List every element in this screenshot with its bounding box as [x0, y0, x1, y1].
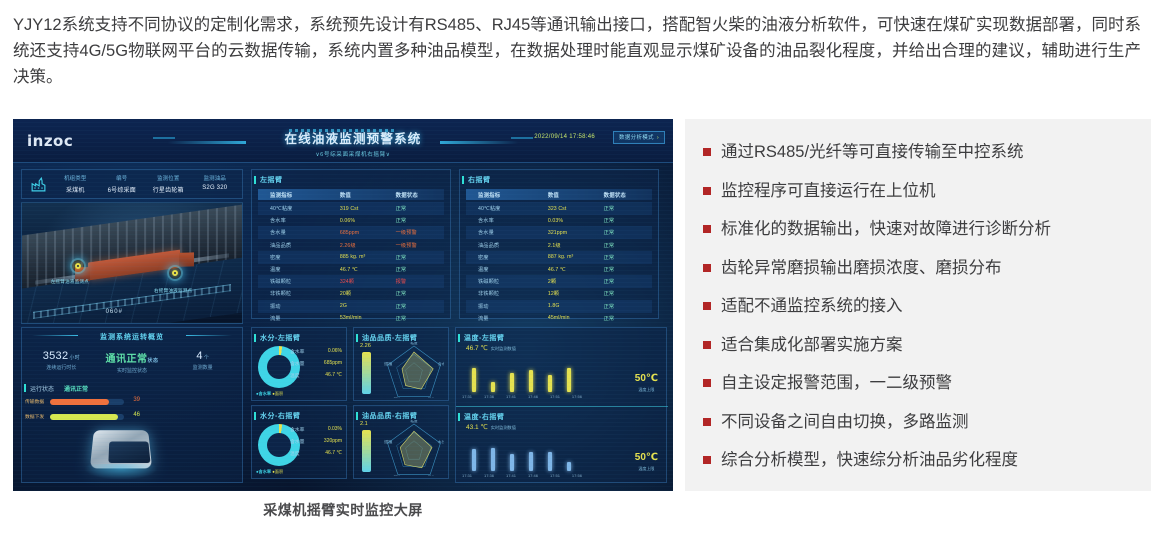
- stat-unit: 小时: [69, 355, 80, 361]
- progress-bar-download: 46: [50, 414, 124, 420]
- cell-value: 323 Cst: [548, 206, 604, 212]
- cell-value: 46.7 ℃: [548, 267, 604, 273]
- header-title-wrap: 在线油液监测预警系统 ∨6号综采面采煤机右摇臂∨: [253, 123, 453, 158]
- kv-value: 0.03%: [328, 426, 342, 433]
- limit-note: 温度上限: [635, 387, 658, 393]
- axis-tick-label: 17:41: [506, 394, 516, 399]
- table-row: 40℃粘度323 Cst正常: [466, 202, 652, 215]
- legend-item-rate: ●含水率: [256, 469, 271, 474]
- column-header-status: 数据状态: [396, 191, 444, 199]
- limit-value: 50℃: [635, 452, 658, 463]
- kv-value: 685ppm: [324, 360, 342, 367]
- quality-left-gauge-bar: [362, 352, 371, 394]
- dashboard-header: inzoc 在线油液监测预警系统 ∨6号综采面采煤机右摇臂∨ 2022/09/1…: [13, 119, 673, 163]
- device-glow: [84, 464, 158, 480]
- info-col-number: 编号 6号综采面: [99, 174, 146, 194]
- axis-tick-label: 17:36: [484, 473, 494, 478]
- kv-key: 温度: [290, 372, 300, 379]
- svg-text:颗粒: 颗粒: [394, 475, 402, 476]
- equipment-info-columns: 机组类型 采煤机 编号 6号综采面 监测位置 行星齿轮箱 监测油品 S2G 32…: [52, 174, 238, 194]
- cell-value: 887 kg. m³: [548, 254, 604, 260]
- monitor-point-left-label: 左摇臂油液监测点: [51, 279, 89, 285]
- water-left-legend: ●含水率 ●面积: [256, 391, 283, 397]
- temperature-right-title: 温度-右摇臂: [464, 412, 504, 422]
- cell-value: 2.26级: [340, 242, 396, 249]
- water-panel-right-arm: 水分-右摇臂 ●含水率 ●面积 含水率0.03% 含水量320ppm 温度46.…: [251, 405, 347, 479]
- water-left-values: 含水率0.06% 含水量685ppm 温度46.7 ℃: [290, 348, 342, 384]
- scene-belt-label: 060#: [106, 309, 123, 315]
- cell-metric: 40℃粘度: [258, 205, 340, 212]
- svg-text:粘度: 粘度: [410, 342, 418, 345]
- cell-value: 45ml/min: [548, 315, 604, 321]
- chart-bar: [529, 370, 533, 392]
- cell-value: 53ml/min: [340, 315, 396, 321]
- bullet-square-icon: [703, 264, 711, 272]
- quality-right-value: 2.1: [360, 421, 368, 427]
- stat-unit: 状态: [148, 358, 159, 364]
- temperature-right-bar-chart: [466, 435, 578, 471]
- info-label: 机组类型: [52, 174, 99, 182]
- bullet-text: 适合集成化部署实施方案: [721, 334, 903, 356]
- bar-label-transmit: 传输数据: [25, 398, 44, 405]
- axis-tick-label: 17:51: [550, 473, 560, 478]
- bullet-item: 齿轮异常磨损输出磨损浓度、磨损分布: [703, 257, 1135, 279]
- limit-note: 温度上限: [635, 466, 658, 472]
- table-row: 流量45ml/min正常: [466, 312, 652, 325]
- table-title-left: 左摇臂: [260, 175, 283, 185]
- cell-metric: 密度: [258, 254, 340, 261]
- dashboard-subtitle-selector[interactable]: ∨6号综采面采煤机右摇臂∨: [253, 150, 453, 158]
- cell-metric: 铁磁颗粒: [466, 278, 548, 285]
- water-panel-left-arm: 水分-左摇臂 ●含水率 ●面积 含水率0.06% 含水量685ppm 温度46.…: [251, 327, 347, 401]
- cell-value: 1.8G: [548, 303, 604, 309]
- table-row: 非铁颗粒12颗正常: [466, 287, 652, 300]
- bullet-text: 标准化的数据输出，快速对故障进行诊断分析: [721, 218, 1051, 240]
- data-analysis-mode-button[interactable]: 数据分析模式›: [613, 131, 665, 144]
- table-row: 非铁颗粒20颗正常: [258, 287, 444, 300]
- chevron-right-icon: ›: [657, 135, 659, 141]
- bullet-square-icon: [703, 302, 711, 310]
- cell-status: 正常: [396, 315, 444, 322]
- device-body: [90, 430, 152, 468]
- bullet-item: 适合集成化部署实施方案: [703, 334, 1135, 356]
- run-status-label: 运行状态: [30, 387, 54, 393]
- water-right-title: 水分-右摇臂: [260, 411, 300, 421]
- axis-tick-label: 17:56: [572, 473, 582, 478]
- stat-number: 4: [196, 350, 202, 362]
- chart-bar: [548, 375, 552, 392]
- intro-paragraph: YJY12系统支持不同协议的定制化需求，系统预先设计有RS485、RJ45等通讯…: [13, 12, 1141, 90]
- kv-key: 含水量: [290, 360, 304, 367]
- cell-value: 2G: [340, 303, 396, 309]
- svg-text:含水: 含水: [438, 361, 444, 366]
- cell-metric: 振动: [258, 303, 340, 310]
- chart-bar: [548, 452, 552, 471]
- overview-stat-comm: 通讯正常状态 实时监控状态: [97, 350, 168, 374]
- column-header-value: 数值: [548, 191, 604, 199]
- cell-status: 正常: [604, 229, 652, 236]
- cell-status: 正常: [396, 303, 444, 310]
- temperature-right-current: 43.1 ℃实时监测数值: [466, 423, 516, 431]
- cell-metric: 非铁颗粒: [466, 290, 548, 297]
- cell-status: 正常: [396, 217, 444, 224]
- cell-value: 0.03%: [548, 218, 604, 224]
- cell-value: 321ppm: [548, 230, 604, 236]
- table-row: 含水率0.03%正常: [466, 214, 652, 227]
- stat-number: 3532: [43, 350, 69, 362]
- cell-status: 报警: [396, 278, 444, 285]
- cell-metric: 油品品质: [466, 242, 548, 249]
- bullet-square-icon: [703, 148, 711, 156]
- cell-value: 319 Cst: [340, 206, 396, 212]
- quality-panel-right-arm: 油品品质-右摇臂 2.1 粘度 水分 氧化 颗粒 总酸值: [353, 405, 449, 479]
- progress-bar-transmit: 39: [50, 399, 124, 405]
- bar-label-download: 数据下发: [25, 413, 44, 420]
- bullet-item: 监控程序可直接运行在上位机: [703, 180, 1135, 202]
- progress-bar-transmit-value: 39: [133, 397, 140, 403]
- bullet-item: 自主设定报警范围，一二级预警: [703, 372, 1135, 394]
- header-decoration-left-small: [153, 137, 175, 139]
- temp-note: 实时监测数值: [491, 346, 516, 351]
- info-value: S2G 320: [192, 185, 239, 191]
- kv-value: 0.06%: [328, 348, 342, 355]
- column-header-metric: 监测指标: [466, 191, 548, 199]
- water-right-legend: ●含水率 ●面积: [256, 469, 283, 475]
- kv-value: 320ppm: [324, 438, 342, 445]
- cell-status: 正常: [604, 205, 652, 212]
- column-header-value: 数值: [340, 191, 396, 199]
- cell-value: 2.1级: [548, 242, 604, 249]
- cell-metric: 密度: [466, 254, 548, 261]
- bullet-square-icon: [703, 225, 711, 233]
- table-row: 铁磁颗粒2颗正常: [466, 275, 652, 288]
- dashboard-timestamp: 2022/09/14 17:58:46: [534, 134, 595, 140]
- dashboard-screen: inzoc 在线油液监测预警系统 ∨6号综采面采煤机右摇臂∨ 2022/09/1…: [13, 119, 673, 491]
- cell-status: 正常: [604, 315, 652, 322]
- quality-left-radar-chart: 粘度 含水 氧化 颗粒 总酸值: [384, 342, 444, 398]
- axis-tick-label: 17:56: [572, 394, 582, 399]
- kv-key: 含水率: [290, 348, 304, 355]
- cell-metric: 流量: [466, 315, 548, 322]
- cell-metric: 含水量: [466, 229, 548, 236]
- cell-status: 正常: [604, 303, 652, 310]
- svg-text:水分: 水分: [438, 439, 444, 444]
- table-row: 振动1.8G正常: [466, 300, 652, 313]
- cell-metric: 流量: [258, 315, 340, 322]
- table-panel-right-arm: 右摇臂 监测指标 数值 数据状态 40℃粘度323 Cst正常含水率0.03%正…: [459, 169, 659, 319]
- cell-value: 12颗: [548, 290, 604, 297]
- bullet-square-icon: [703, 456, 711, 464]
- info-col-machine-type: 机组类型 采煤机: [52, 174, 99, 194]
- bullet-square-icon: [703, 341, 711, 349]
- cell-metric: 40℃粘度: [466, 205, 548, 212]
- table-row: 含水量321ppm正常: [466, 226, 652, 239]
- legend-item-area: ●面积: [272, 391, 283, 396]
- chart-bar: [510, 373, 514, 392]
- table-row: 油品品质2.1级正常: [466, 239, 652, 252]
- data-analysis-mode-label: 数据分析模式: [619, 135, 654, 141]
- system-overview-panel: 监测系统运转概览 3532小时 连续运行时长 通讯正常状态 实时监控状态 4个 …: [21, 327, 243, 483]
- temperature-left-current: 46.7 ℃实时监测数值: [466, 344, 516, 352]
- run-status-row: 运行状态通讯正常: [30, 384, 88, 393]
- kv-value: 46.7 ℃: [325, 450, 342, 457]
- bullet-text: 不同设备之间自由切换，多路监测: [721, 411, 969, 433]
- stat-number: 通讯正常: [106, 354, 148, 365]
- table-row: 油品品质2.26级一级预警: [258, 239, 444, 252]
- cell-metric: 铁磁颗粒: [258, 278, 340, 285]
- bullet-item: 不同设备之间自由切换，多路监测: [703, 411, 1135, 433]
- bullet-square-icon: [703, 379, 711, 387]
- chart-bar: [567, 368, 571, 392]
- table-row: 温度46.7 ℃正常: [466, 263, 652, 276]
- page-root: YJY12系统支持不同协议的定制化需求，系统预先设计有RS485、RJ45等通讯…: [0, 0, 1151, 535]
- table-row: 含水量685ppm一级预警: [258, 226, 444, 239]
- temperature-section-left-arm: 温度-左摇臂 46.7 ℃实时监测数值 17:3117:3617:4117:46…: [456, 328, 668, 405]
- equipment-info-strip: 机组类型 采煤机 编号 6号综采面 监测位置 行星齿轮箱 监测油品 S2G 32…: [21, 169, 243, 199]
- table-row: 密度887 kg. m³正常: [466, 251, 652, 264]
- cell-metric: 振动: [466, 303, 548, 310]
- temp-value: 43.1 ℃: [466, 424, 488, 431]
- cell-status: 正常: [604, 217, 652, 224]
- overview-title: 监测系统运转概览: [22, 332, 242, 342]
- cell-metric: 含水量: [258, 229, 340, 236]
- axis-tick-label: 17:41: [506, 473, 516, 478]
- cell-status: 正常: [396, 290, 444, 297]
- chart-bar: [491, 382, 495, 392]
- info-value: 6号综采面: [99, 185, 146, 194]
- axis-tick-label: 17:36: [484, 394, 494, 399]
- overview-stat-runtime: 3532小时 连续运行时长: [26, 350, 97, 374]
- table-row: 密度885 kg. m³正常: [258, 251, 444, 264]
- cell-status: 一级预警: [396, 242, 444, 249]
- stat-unit: 个: [204, 355, 209, 361]
- quality-left-value: 2.26: [360, 343, 371, 349]
- column-header-metric: 监测指标: [258, 191, 340, 199]
- cell-status: 正常: [396, 266, 444, 273]
- bullet-item: 通过RS485/光纤等可直接传输至中控系统: [703, 141, 1135, 163]
- table-row: 40℃粘度319 Cst正常: [258, 202, 444, 215]
- overview-stat-value: 3532小时: [26, 350, 97, 362]
- table-header-left: 监测指标 数值 数据状态: [258, 189, 444, 200]
- info-label: 监测位置: [145, 174, 192, 182]
- axis-tick-label: 17:31: [462, 394, 472, 399]
- info-col-position: 监测位置 行星齿轮箱: [145, 174, 192, 194]
- water-left-title: 水分-左摇臂: [260, 333, 300, 343]
- kv-key: 温度: [290, 450, 300, 457]
- stat-label: 监测数量: [167, 364, 238, 371]
- table-header-right: 监测指标 数值 数据状态: [466, 189, 652, 200]
- legend-item-area: ●面积: [272, 469, 283, 474]
- info-label: 编号: [99, 174, 146, 182]
- info-value: 采煤机: [52, 185, 99, 194]
- chart-bar: [472, 368, 476, 392]
- temperature-right-limit: 50℃ 温度上限: [635, 447, 658, 472]
- bullet-item: 标准化的数据输出，快速对故障进行诊断分析: [703, 218, 1135, 240]
- table-row: 温度46.7 ℃正常: [258, 263, 444, 276]
- bullet-square-icon: [703, 418, 711, 426]
- sensor-device-illustration: [84, 424, 158, 480]
- info-value: 行星齿轮箱: [145, 185, 192, 194]
- cell-metric: 油品品质: [258, 242, 340, 249]
- chart-bar: [510, 454, 514, 471]
- bullet-text: 综合分析模型，快速综分析油品劣化程度: [721, 449, 1018, 471]
- axis-tick-label: 17:51: [550, 394, 560, 399]
- table-row: 振动2G正常: [258, 300, 444, 313]
- info-col-oil: 监测油品 S2G 320: [192, 174, 239, 194]
- table-panel-left-arm: 左摇臂 监测指标 数值 数据状态 40℃粘度319 Cst正常含水率0.06%正…: [251, 169, 451, 319]
- overview-stat-value: 通讯正常状态: [97, 350, 168, 365]
- temperature-section-right-arm: 温度-右摇臂 43.1 ℃实时监测数值 17:3117:3617:4117:46…: [456, 406, 668, 483]
- kv-value: 46.7 ℃: [325, 372, 342, 379]
- figure-caption: 采煤机摇臂实时监控大屏: [13, 500, 673, 520]
- cell-metric: 温度: [258, 266, 340, 273]
- bullet-item: 综合分析模型，快速综分析油品劣化程度: [703, 449, 1135, 471]
- axis-tick-label: 17:31: [462, 473, 472, 478]
- cell-metric: 非铁颗粒: [258, 290, 340, 297]
- device-screen: [108, 441, 150, 463]
- quality-panel-left-arm: 油品品质-左摇臂 2.26 粘度 含水 氧化 颗粒 总酸值: [353, 327, 449, 401]
- cell-value: 685ppm: [340, 230, 396, 236]
- bullet-text: 适配不通监控系统的接入: [721, 295, 903, 317]
- svg-text:颗粒: 颗粒: [394, 397, 402, 398]
- header-decoration-right-small: [511, 137, 533, 139]
- temperature-panel: 温度-左摇臂 46.7 ℃实时监测数值 17:3117:3617:4117:46…: [455, 327, 667, 483]
- temperature-left-title: 温度-左摇臂: [464, 333, 504, 343]
- chart-bar: [491, 448, 495, 471]
- cell-status: 正常: [604, 242, 652, 249]
- progress-bar-download-value: 46: [133, 412, 140, 418]
- bullet-text: 监控程序可直接运行在上位机: [721, 180, 936, 202]
- column-header-status: 数据状态: [604, 191, 652, 199]
- feature-bullet-list: 通过RS485/光纤等可直接传输至中控系统监控程序可直接运行在上位机标准化的数据…: [685, 119, 1151, 491]
- bullet-square-icon: [703, 187, 711, 195]
- svg-text:总酸值: 总酸值: [384, 361, 393, 366]
- bullet-text: 齿轮异常磨损输出磨损浓度、磨损分布: [721, 257, 1002, 279]
- svg-text:氧化: 氧化: [428, 475, 436, 476]
- cell-value: 324颗: [340, 278, 396, 285]
- bullet-item: 适配不通监控系统的接入: [703, 295, 1135, 317]
- svg-text:粘度: 粘度: [410, 420, 418, 423]
- kv-key: 含水率: [290, 426, 304, 433]
- axis-tick-label: 17:46: [528, 394, 538, 399]
- temperature-left-limit: 50℃ 温度上限: [635, 368, 658, 393]
- quality-right-radar-chart: 粘度 水分 氧化 颗粒 总酸值: [384, 420, 444, 476]
- temp-value: 46.7 ℃: [466, 345, 488, 352]
- bullet-text: 自主设定报警范围，一二级预警: [721, 372, 952, 394]
- cell-status: 正常: [396, 205, 444, 212]
- header-decoration-left: [168, 141, 246, 144]
- brand-logo-text: inzoc: [27, 132, 73, 150]
- temp-note: 实时监测数值: [491, 425, 516, 430]
- axis-tick-label: 17:46: [528, 473, 538, 478]
- cell-value: 885 kg. m³: [340, 254, 396, 260]
- chart-bar: [529, 452, 533, 471]
- limit-value: 50℃: [635, 373, 658, 384]
- temperature-right-axis: 17:3117:3617:4117:4617:5117:56: [462, 473, 582, 478]
- table-title-right: 右摇臂: [468, 175, 491, 185]
- cell-metric: 温度: [466, 266, 548, 273]
- cell-metric: 含水率: [258, 217, 340, 224]
- cell-value: 2颗: [548, 278, 604, 285]
- cell-value: 0.06%: [340, 218, 396, 224]
- factory-icon: [30, 176, 47, 193]
- mine-3d-scene[interactable]: 左摇臂油液监测点 右摇臂油液监测点 060#: [21, 202, 243, 324]
- run-status-value: 通讯正常: [64, 387, 88, 393]
- svg-text:总酸值: 总酸值: [384, 439, 393, 444]
- cell-status: 正常: [604, 290, 652, 297]
- cell-status: 正常: [604, 278, 652, 285]
- quality-right-gauge-bar: [362, 430, 371, 472]
- brand-logo: inzoc: [27, 132, 73, 150]
- table-row: 铁磁颗粒324颗报警: [258, 275, 444, 288]
- table-row: 流量53ml/min正常: [258, 312, 444, 325]
- overview-stat-count: 4个 监测数量: [167, 350, 238, 374]
- table-row: 含水率0.06%正常: [258, 214, 444, 227]
- cell-status: 正常: [604, 254, 652, 261]
- temperature-left-bar-chart: [466, 356, 578, 392]
- cell-value: 46.7 ℃: [340, 267, 396, 273]
- kv-key: 含水量: [290, 438, 304, 445]
- chart-bar: [567, 462, 571, 471]
- cell-metric: 含水率: [466, 217, 548, 224]
- water-right-values: 含水率0.03% 含水量320ppm 温度46.7 ℃: [290, 426, 342, 462]
- overview-stat-value: 4个: [167, 350, 238, 362]
- bullet-text: 通过RS485/光纤等可直接传输至中控系统: [721, 141, 1024, 163]
- cell-status: 正常: [396, 254, 444, 261]
- legend-item-rate: ●含水率: [256, 391, 271, 396]
- cell-value: 20颗: [340, 290, 396, 297]
- svg-text:氧化: 氧化: [428, 397, 436, 398]
- overview-stats: 3532小时 连续运行时长 通讯正常状态 实时监控状态 4个 监测数量: [26, 350, 238, 374]
- stat-label: 连续运行时长: [26, 364, 97, 371]
- stat-label: 实时监控状态: [97, 367, 168, 374]
- cell-status: 一级预警: [396, 229, 444, 236]
- dashboard-title: 在线油液监测预警系统: [253, 123, 453, 149]
- chart-bar: [472, 449, 476, 471]
- info-label: 监测油品: [192, 174, 239, 182]
- cell-status: 正常: [604, 266, 652, 273]
- temperature-left-axis: 17:3117:3617:4117:4617:5117:56: [462, 394, 582, 399]
